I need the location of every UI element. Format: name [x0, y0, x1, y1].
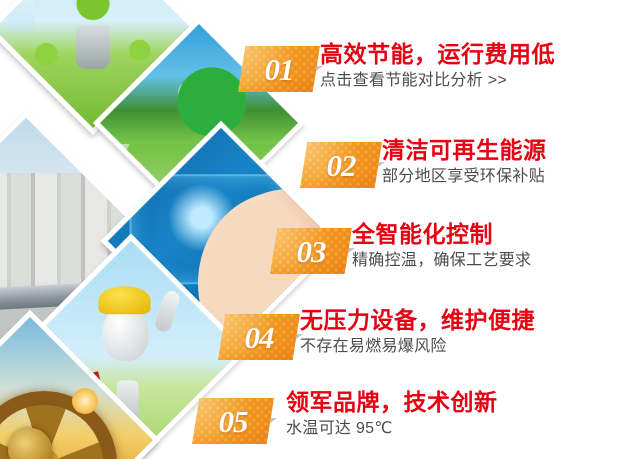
feature-headline: 清洁可再生能源 [382, 138, 547, 164]
feature-text-4: 无压力设备，维护便捷 不存在易燃易爆风险 [300, 308, 535, 358]
feature-number: 05 [192, 398, 274, 444]
feature-headline: 领军品牌，技术创新 [286, 390, 498, 416]
feature-number: 01 [238, 46, 320, 92]
feature-headline: 高效节能，运行费用低 [320, 42, 555, 68]
feature-subline-link[interactable]: 点击查看节能对比分析 >> [320, 71, 555, 92]
feature-badge-1: 01 [238, 46, 320, 92]
feature-headline: 全智能化控制 [352, 222, 531, 248]
feature-subline: 精确控温，确保工艺要求 [352, 251, 531, 272]
sunset-sun-icon [72, 388, 98, 414]
feature-subline: 水温可达 95℃ [286, 419, 498, 440]
feature-text-3: 全智能化控制 精确控温，确保工艺要求 [352, 222, 531, 272]
feature-number: 03 [270, 228, 352, 274]
feature-badge-4: 04 [218, 314, 300, 360]
feature-headline: 无压力设备，维护便捷 [300, 308, 535, 334]
feature-badge-3: 03 [270, 228, 352, 274]
worker-arm [153, 289, 181, 334]
feature-subline: 部分地区享受环保补贴 [382, 167, 547, 188]
feature-number: 04 [218, 314, 300, 360]
feature-subline: 不存在易燃易爆风险 [300, 337, 535, 358]
feature-badge-5: 05 [192, 398, 274, 444]
feature-number: 02 [300, 142, 382, 188]
feature-text-1: 高效节能，运行费用低 点击查看节能对比分析 >> [320, 42, 555, 92]
feature-badge-2: 02 [300, 142, 382, 188]
feature-text-2: 清洁可再生能源 部分地区享受环保补贴 [382, 138, 547, 188]
promo-banner: 01 高效节能，运行费用低 点击查看节能对比分析 >> 02 清洁可再生能源 部… [0, 0, 620, 459]
feature-text-5: 领军品牌，技术创新 水温可达 95℃ [286, 390, 498, 440]
